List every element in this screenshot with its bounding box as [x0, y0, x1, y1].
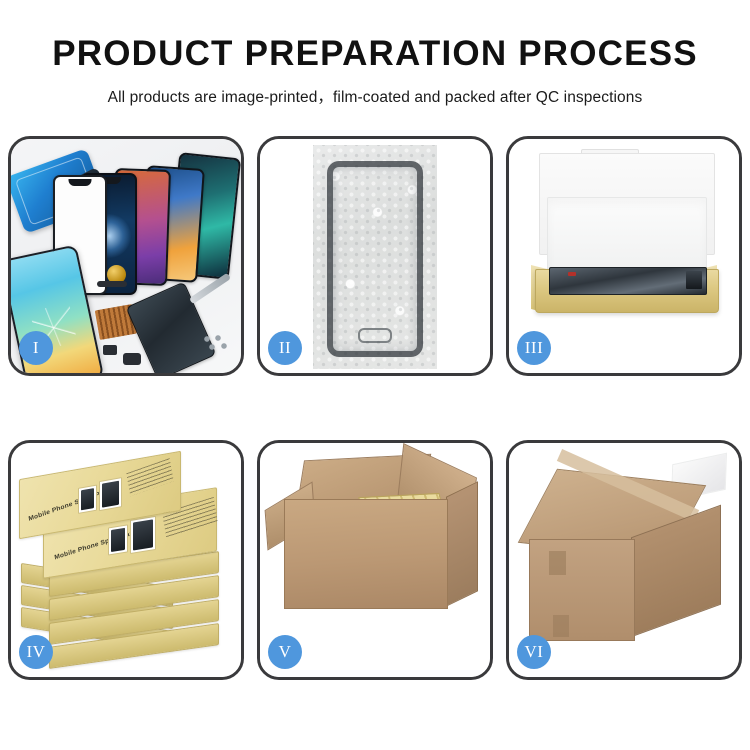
- product-preparation-infographic: PRODUCT PREPARATION PROCESS All products…: [0, 0, 750, 750]
- step-panel-3: III: [506, 136, 742, 376]
- carton-front-face: [284, 499, 448, 609]
- flex-cable-part-icon: [97, 281, 127, 287]
- carton-side-face: [446, 481, 478, 607]
- step-panel-4: Mobile Phone Spare Parts Mobile Phone Sp…: [8, 440, 244, 680]
- step-badge-5: V: [268, 635, 302, 669]
- step-panel-1: I: [8, 136, 244, 376]
- bubble-wrap-sheet: [313, 145, 437, 369]
- steps-grid: I II: [8, 136, 742, 680]
- home-button-cutout: [358, 328, 392, 343]
- box-stack: Mobile Phone Spare Parts Mobile Phone Sp…: [19, 457, 233, 663]
- step-badge-3: III: [517, 331, 551, 365]
- header: PRODUCT PREPARATION PROCESS All products…: [0, 0, 750, 107]
- packed-screen: [549, 267, 707, 295]
- step-badge-1: I: [19, 331, 53, 365]
- page-subtitle: All products are image-printed，film-coat…: [0, 85, 750, 107]
- screws-icon: [203, 335, 229, 351]
- label-sticker: [568, 272, 576, 276]
- page-title: PRODUCT PREPARATION PROCESS: [0, 36, 750, 71]
- camera-part-icon: [103, 345, 117, 355]
- step-panel-6: VI: [506, 440, 742, 680]
- foam-padding: [547, 197, 707, 275]
- step-panel-5: V: [257, 440, 493, 680]
- battery-part-icon: [123, 353, 141, 365]
- carton-handle-cutout-lower: [553, 615, 569, 637]
- carton-handle-cutout-upper: [549, 551, 566, 575]
- step-badge-6: VI: [517, 635, 551, 669]
- wrapped-screen-outline: [327, 161, 423, 357]
- step-badge-4: IV: [19, 635, 53, 669]
- step-panel-2: II: [257, 136, 493, 376]
- sealed-carton-front: [529, 539, 635, 641]
- step-badge-2: II: [268, 331, 302, 365]
